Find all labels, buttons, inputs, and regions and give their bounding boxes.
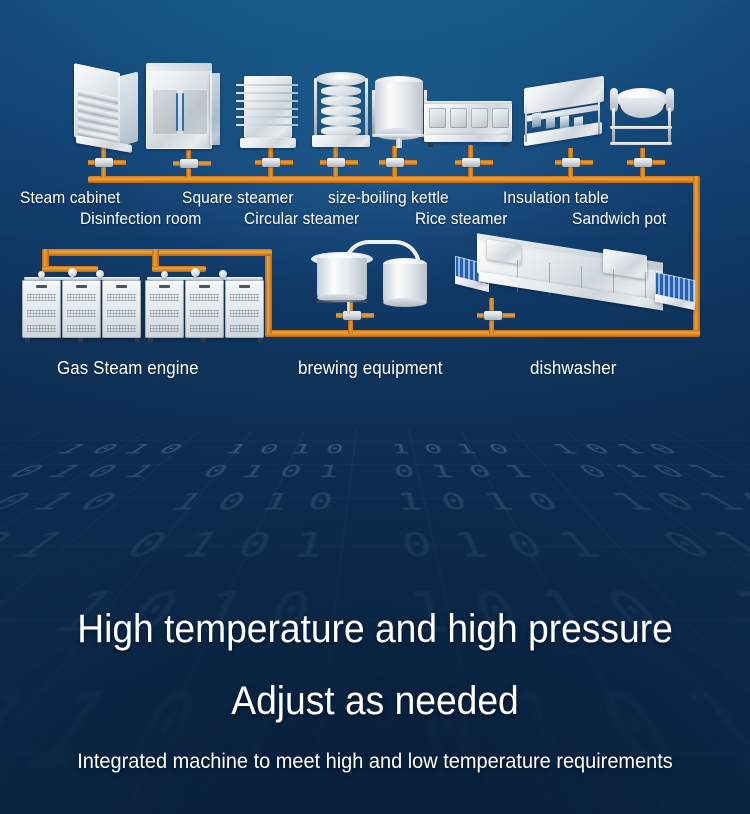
equipment-insulation-table[interactable] [524, 82, 608, 148]
headline-line-2: Adjust as needed [26, 676, 724, 726]
label-steam-cabinet: Steam cabinet [20, 189, 120, 208]
equipment-steam-cabinet[interactable] [74, 68, 144, 150]
label-rice-steamer: Rice steamer [415, 210, 508, 229]
gauge-icon [161, 271, 168, 278]
valve-sandwich-pot-a[interactable] [562, 158, 580, 167]
headline-line-1: High temperature and high pressure [26, 604, 724, 654]
gauge-icon [96, 270, 104, 278]
valve-size-boiling-kettle[interactable] [262, 158, 280, 167]
label-sandwich-pot: Sandwich pot [572, 210, 666, 229]
equipment-size-boiling-kettle[interactable] [372, 76, 428, 150]
equipment-gas-steam-engine-bank-1[interactable] [22, 268, 142, 342]
equipment-brewing-equipment[interactable] [305, 236, 440, 316]
pipe-left-vertical [265, 249, 272, 334]
valve-square-steamer[interactable] [180, 159, 198, 168]
label-dishwasher: dishwasher [530, 358, 617, 379]
equipment-rice-steamer[interactable] [424, 95, 514, 147]
valve-steam-cabinet[interactable] [95, 158, 113, 167]
label-insulation-table: Insulation table [503, 189, 609, 208]
label-disinfection-room: Disinfection room [80, 210, 201, 229]
valve-sandwich-pot-b[interactable] [634, 158, 652, 167]
equipment-dishwasher[interactable] [455, 248, 705, 318]
gauge-icon [38, 271, 45, 278]
equipment-disinfection-room[interactable] [146, 63, 220, 151]
headline-subtitle: Integrated machine to meet high and low … [19, 748, 732, 776]
label-circular-steamer: Circular steamer [244, 210, 359, 229]
equipment-square-steamer[interactable] [236, 68, 302, 150]
valve-insulation-table[interactable] [462, 158, 480, 167]
poster-canvas: 1010 1010 1010 1010 0101 0101 0101 0101 … [0, 0, 750, 814]
valve-rice-steamer[interactable] [386, 158, 404, 167]
equipment-sandwich-pot[interactable] [606, 82, 678, 150]
label-square-steamer: Square steamer [182, 189, 294, 208]
equipment-gas-steam-engine-bank-2[interactable] [145, 268, 265, 342]
pipe-main-lower [265, 330, 700, 337]
label-gas-steam-engine: Gas Steam engine [57, 358, 199, 379]
equipment-circular-steamer[interactable] [312, 72, 370, 150]
label-brewing-equipment: brewing equipment [298, 358, 443, 379]
valve-circular-steamer[interactable] [327, 158, 345, 167]
gauge-icon [219, 270, 227, 278]
label-size-boiling-kettle: size-boiling kettle [328, 189, 449, 208]
pipe-main-upper [88, 176, 700, 183]
